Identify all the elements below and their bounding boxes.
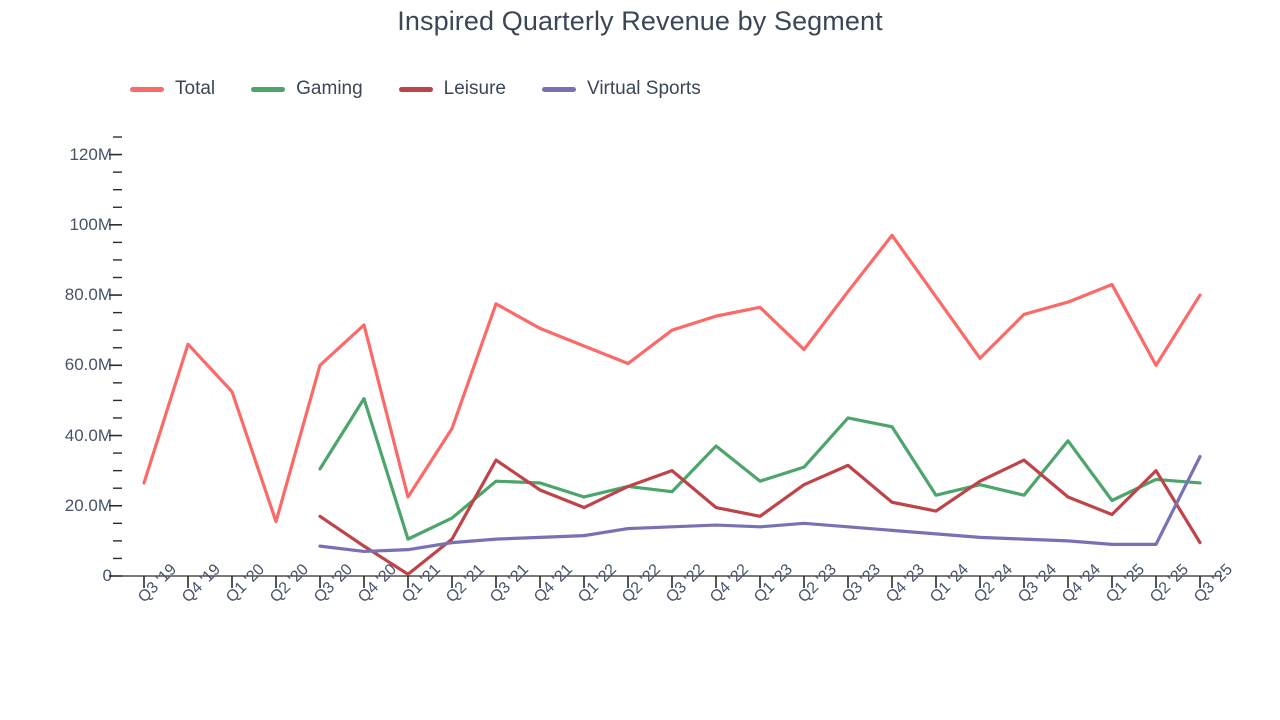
- chart-container: Inspired Quarterly Revenue by Segment To…: [0, 0, 1280, 720]
- legend-swatch-icon: [542, 87, 576, 92]
- series-line-gaming[interactable]: [320, 399, 1200, 539]
- y-axis-tick-label: 20.0M: [65, 496, 112, 516]
- legend-swatch-icon: [130, 87, 164, 92]
- y-axis-tick-label: 60.0M: [65, 355, 112, 375]
- series-line-total[interactable]: [144, 235, 1200, 521]
- y-axis-tick-label: 120M: [69, 145, 112, 165]
- legend-label: Leisure: [444, 78, 506, 100]
- y-axis-tick-label: 100M: [69, 215, 112, 235]
- legend-item-total[interactable]: Total: [130, 78, 215, 100]
- legend-label: Virtual Sports: [587, 78, 701, 100]
- legend-label: Total: [175, 78, 215, 100]
- series-canvas: [122, 130, 1222, 576]
- plot-area: [122, 130, 1222, 576]
- legend-swatch-icon: [399, 87, 433, 92]
- y-axis: 020.0M40.0M60.0M80.0M100M120M: [0, 130, 112, 576]
- y-axis-tick-label: 40.0M: [65, 426, 112, 446]
- legend-item-virtual-sports[interactable]: Virtual Sports: [542, 78, 701, 100]
- legend-item-gaming[interactable]: Gaming: [251, 78, 363, 100]
- chart-title: Inspired Quarterly Revenue by Segment: [0, 6, 1280, 37]
- y-axis-tick-label: 80.0M: [65, 285, 112, 305]
- chart-legend: TotalGamingLeisureVirtual Sports: [130, 78, 737, 100]
- legend-swatch-icon: [251, 87, 285, 92]
- legend-label: Gaming: [296, 78, 363, 100]
- legend-item-leisure[interactable]: Leisure: [399, 78, 506, 100]
